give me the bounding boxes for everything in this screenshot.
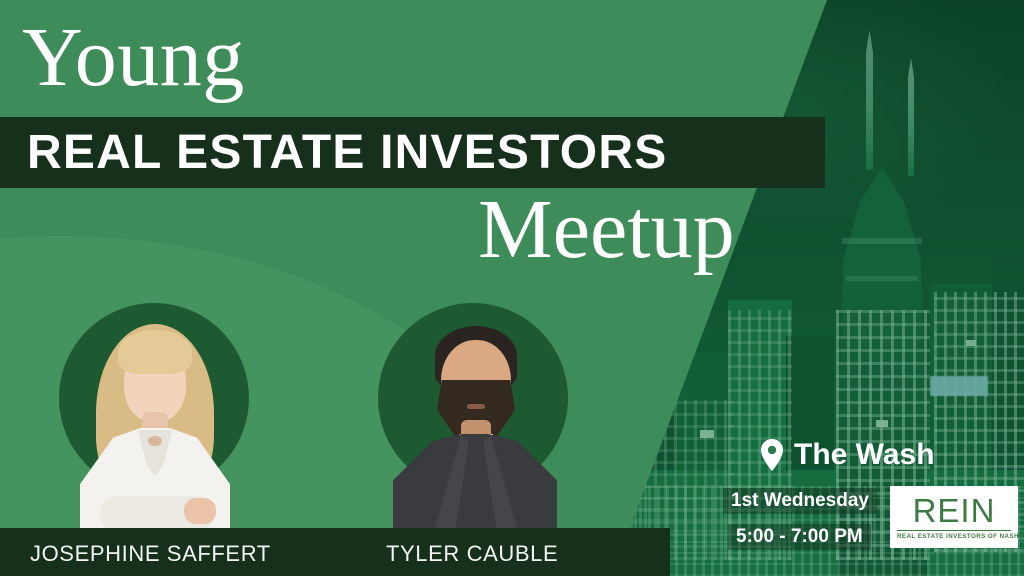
speaker-portrait-tyler (363, 300, 583, 550)
venue-name: The Wash (794, 438, 935, 472)
necklace (148, 436, 162, 446)
hair-top (118, 330, 192, 374)
hand (184, 498, 216, 524)
headline-meetup: Meetup (478, 188, 735, 272)
rein-logo: REIN REAL ESTATE INVESTORS OF NASHVILLE (890, 486, 1018, 548)
rein-logo-tagline: REAL ESTATE INVESTORS OF NASHVILLE (897, 533, 1011, 541)
mouth (467, 404, 485, 409)
rein-logo-mark: REIN (897, 494, 1011, 527)
venue-line: The Wash (760, 438, 935, 472)
rein-logo-rule (897, 530, 1011, 531)
headline-real-estate-investors: REAL ESTATE INVESTORS (27, 127, 827, 179)
event-poster: Young REAL ESTATE INVESTORS Meetup JOSEP… (0, 0, 1024, 576)
event-time: 5:00 - 7:00 PM (728, 524, 871, 550)
speaker-portrait-josephine (44, 300, 264, 550)
speaker-name-josephine: JOSEPHINE SAFFERT (30, 541, 271, 567)
location-pin-icon (760, 439, 784, 471)
event-day: 1st Wednesday (723, 488, 877, 514)
speaker-name-tyler: TYLER CAUBLE (386, 541, 558, 567)
headline-young: Young (22, 16, 245, 100)
